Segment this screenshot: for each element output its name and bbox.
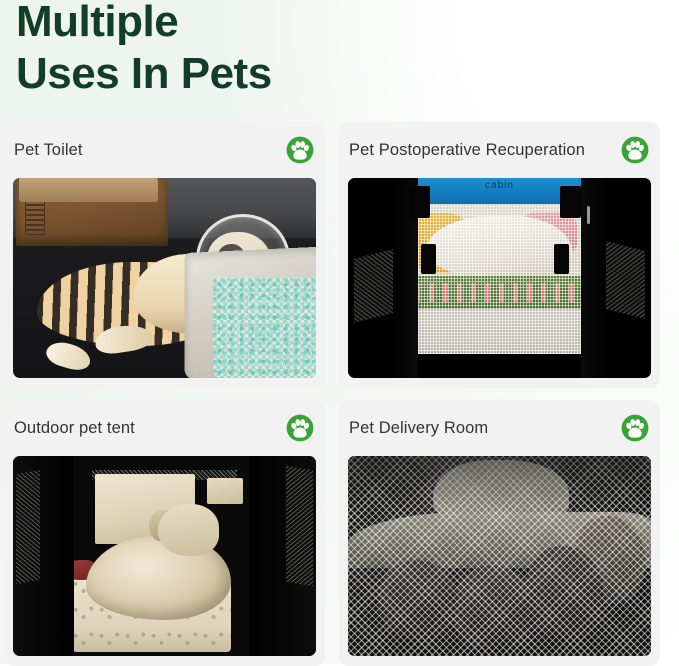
card-photo-pet-delivery-room [348, 456, 651, 656]
paw-badge-icon [621, 414, 649, 442]
card-header: Pet Delivery Room [339, 400, 660, 456]
paw-badge-icon [621, 136, 649, 164]
use-case-card-pet-delivery-room[interactable]: Pet Delivery Room [339, 400, 660, 666]
page-title: Multiple Uses In Pets [16, 0, 496, 100]
paw-badge-icon [286, 136, 314, 164]
card-photo-outdoor-pet-tent [13, 456, 316, 656]
promo-page: Multiple Uses In Pets Pet Toilet [0, 0, 679, 664]
paw-badge-icon [286, 414, 314, 442]
card-title: Pet Postoperative Recuperation [349, 140, 585, 160]
card-title: Outdoor pet tent [14, 418, 135, 438]
card-header: Pet Postoperative Recuperation [339, 122, 660, 178]
card-title: Pet Delivery Room [349, 418, 488, 438]
card-header: Outdoor pet tent [4, 400, 325, 456]
page-title-line-1: Multiple [16, 0, 496, 48]
card-photo-pet-toilet [13, 178, 316, 378]
card-photo-pet-postoperative-recuperation: cabin [348, 178, 651, 378]
page-title-line-2: Uses In Pets [16, 48, 496, 100]
card-title: Pet Toilet [14, 140, 83, 160]
use-case-card-pet-toilet[interactable]: Pet Toilet [4, 122, 325, 388]
card-header: Pet Toilet [4, 122, 325, 178]
use-case-card-pet-postoperative-recuperation[interactable]: Pet Postoperative Recuperation cabin [339, 122, 660, 388]
use-case-card-outdoor-pet-tent[interactable]: Outdoor pet tent [4, 400, 325, 666]
use-case-card-grid: Pet Toilet [4, 122, 675, 666]
